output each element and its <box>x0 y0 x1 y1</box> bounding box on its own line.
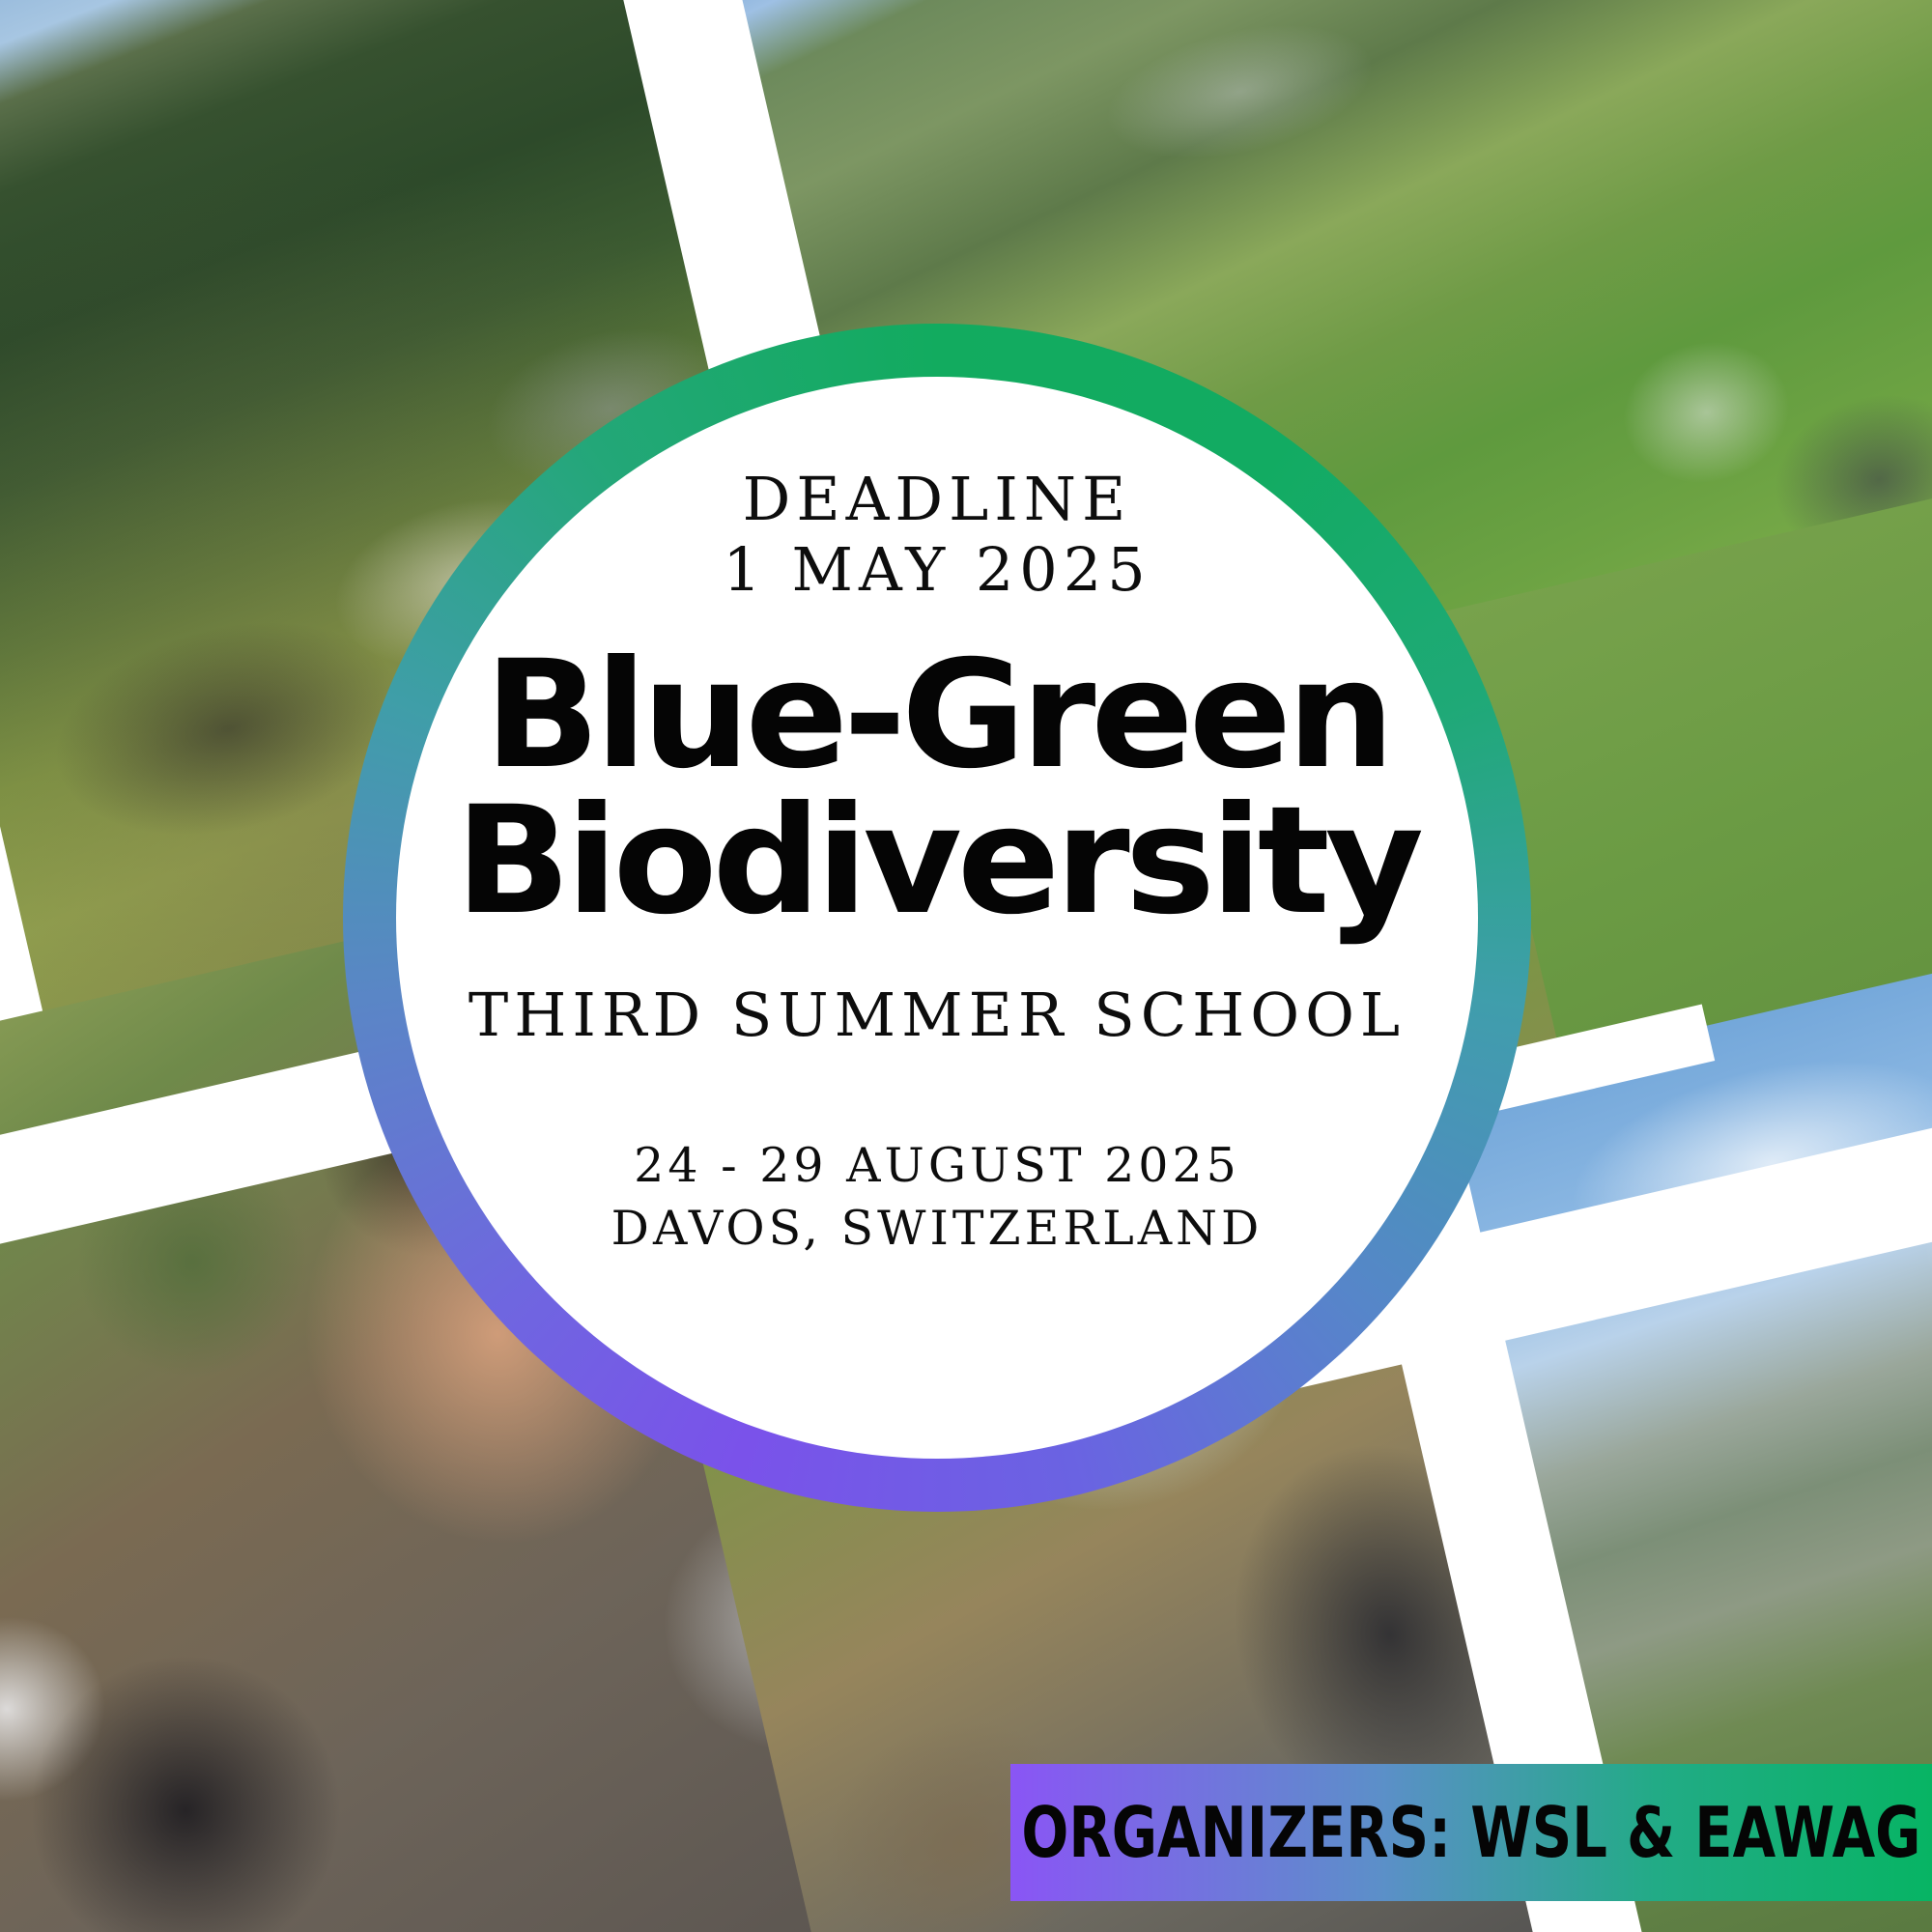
event-location: DAVOS, SWITZERLAND <box>611 1198 1264 1261</box>
gradient-ring: DEADLINE 1 MAY 2025 Blue-Green Biodivers… <box>343 324 1531 1512</box>
organizers-label: ORGANIZERS: WSL & EAWAG <box>1021 1792 1920 1873</box>
deadline-date: 1 MAY 2025 <box>723 534 1151 605</box>
deadline-block: DEADLINE 1 MAY 2025 <box>723 464 1151 605</box>
disc-content: DEADLINE 1 MAY 2025 Blue-Green Biodivers… <box>396 377 1478 1459</box>
page-subtitle: THIRD SUMMER SCHOOL <box>469 980 1406 1050</box>
page-title-line-1: Blue-Green <box>455 643 1419 789</box>
page-title-line-2: Biodiversity <box>455 789 1419 935</box>
event-dates: 24 - 29 AUGUST 2025 <box>611 1135 1264 1198</box>
title-block: Blue-Green Biodiversity <box>465 643 1409 935</box>
deadline-label: DEADLINE <box>723 464 1151 534</box>
white-disc: DEADLINE 1 MAY 2025 Blue-Green Biodivers… <box>396 377 1478 1459</box>
poster-root: DEADLINE 1 MAY 2025 Blue-Green Biodivers… <box>0 0 1932 1932</box>
organizers-banner: ORGANIZERS: WSL & EAWAG <box>1010 1764 1932 1901</box>
event-meta: 24 - 29 AUGUST 2025 DAVOS, SWITZERLAND <box>611 1135 1264 1260</box>
